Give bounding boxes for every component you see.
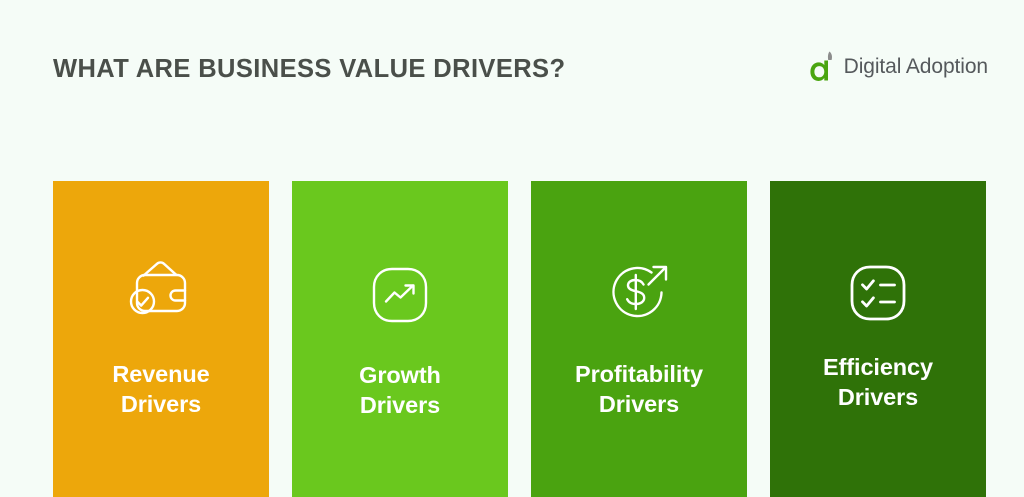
wallet-check-icon [121,253,201,333]
card-label-profitability: Profitability Drivers [575,360,703,419]
digital-adoption-logo-icon [810,51,838,83]
card-label-line2: Drivers [575,390,703,420]
card-label-revenue: Revenue Drivers [112,360,209,419]
card-label-line1: Profitability [575,361,703,387]
card-efficiency-drivers[interactable]: Efficiency Drivers [770,181,986,497]
page-title: WHAT ARE BUSINESS VALUE DRIVERS? [53,55,565,84]
card-label-efficiency: Efficiency Drivers [823,353,933,412]
card-label-line1: Growth [359,362,441,388]
card-label-growth: Growth Drivers [359,361,441,420]
card-profitability-drivers[interactable]: Profitability Drivers [531,181,747,497]
card-growth-drivers[interactable]: Growth Drivers [292,181,508,497]
checklist-square-icon [838,253,918,333]
value-driver-card-row: Revenue Drivers Growth Drivers [53,181,986,497]
brand-name: Digital Adoption [844,55,988,79]
card-label-line1: Efficiency [823,354,933,380]
card-label-line2: Drivers [823,383,933,413]
brand-logo: Digital Adoption [810,50,988,84]
card-label-line2: Drivers [112,390,209,420]
card-label-line1: Revenue [112,361,209,387]
infographic-page: WHAT ARE BUSINESS VALUE DRIVERS? Digital… [0,0,1024,497]
dollar-circle-arrow-icon [599,253,679,333]
trend-up-chart-icon [360,255,440,335]
card-revenue-drivers[interactable]: Revenue Drivers [53,181,269,497]
card-label-line2: Drivers [359,391,441,421]
